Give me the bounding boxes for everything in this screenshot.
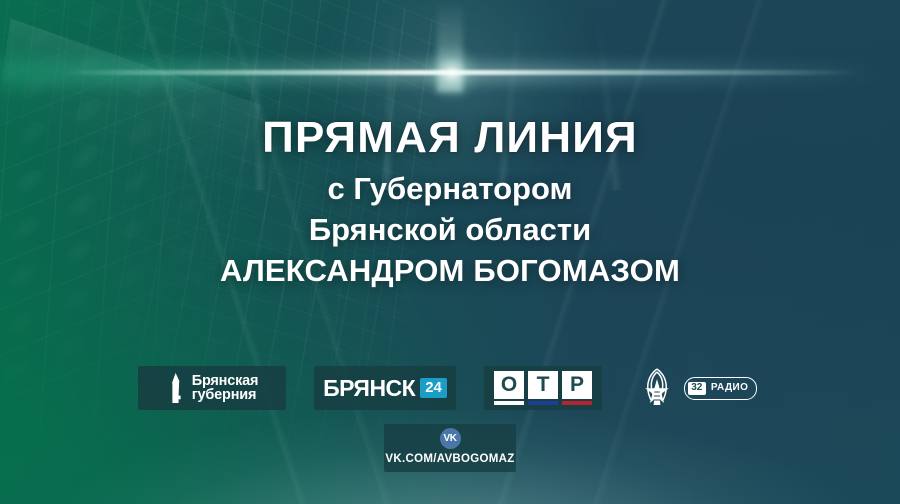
logo-otr-cell-t: Т [528,371,558,406]
vk-url-label: VK.COM/AVBOGOMAZ [385,453,514,465]
partner-logo-row: Брянская губерния БРЯНСК 24 О Т Р [0,365,900,411]
logo-otr-letter-r: Р [562,371,592,399]
social-link-vk[interactable]: VK VK.COM/AVBOGOMAZ [384,424,516,472]
logo-radio-badge: 32 [688,382,706,395]
monument-tower-icon [166,373,185,403]
logo-bryansk-badge: 24 [420,378,447,398]
governor-name: АЛЕКСАНДРОМ БОГОМАЗОМ [0,251,900,292]
logo-bryansk-24[interactable]: БРЯНСК 24 [314,366,456,410]
logo-otr-bar-white [494,401,524,405]
logo-radio-pill: 32 РАДИО [684,377,758,400]
broadcast-tower-star-icon [635,366,679,410]
logo-otr-bar-red [562,401,592,405]
logo-guberniya-line-2: губерния [192,388,259,403]
logo-radio-word: РАДИО [711,383,748,393]
broadcast-title-card: ПРЯМАЯ ЛИНИЯ с Губернатором Брянской обл… [0,0,900,504]
logo-32-radio[interactable]: 32 РАДИО [630,365,762,411]
logo-otr-cell-r: Р [562,371,592,406]
logo-otr[interactable]: О Т Р [484,366,602,410]
logo-bryansk-word: БРЯНСК [323,375,415,402]
logo-bryanskaya-guberniya[interactable]: Брянская губерния [138,366,286,410]
logo-otr-bar-blue [528,401,558,405]
logo-guberniya-line-1: Брянская [192,374,259,389]
logo-otr-cell-o: О [494,371,524,406]
page-title: ПРЯМАЯ ЛИНИЯ [0,116,900,160]
logo-otr-letter-o: О [494,371,524,399]
title-block: ПРЯМАЯ ЛИНИЯ с Губернатором Брянской обл… [0,116,900,292]
subtitle-line-1: с Губернатором [0,169,900,210]
logo-guberniya-text: Брянская губерния [192,374,259,403]
subtitle: с Губернатором Брянской области [0,169,900,251]
vk-icon: VK [440,428,461,449]
logo-otr-letter-t: Т [528,371,558,399]
subtitle-line-2: Брянской области [0,210,900,251]
